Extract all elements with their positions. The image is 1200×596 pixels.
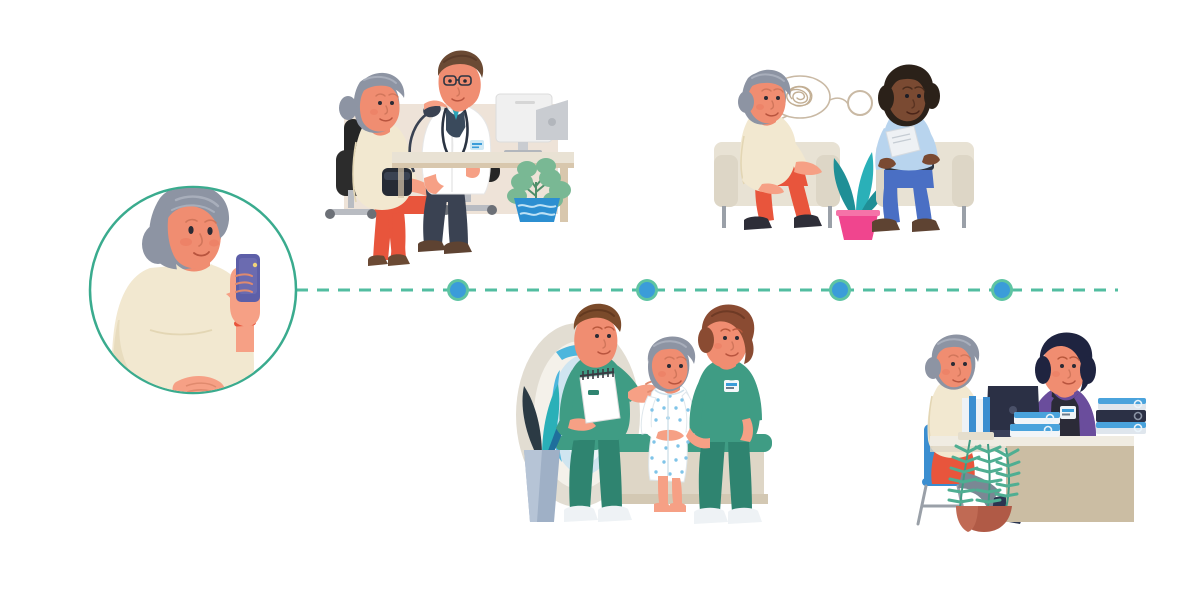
timeline-node-therapy[interactable] (636, 279, 658, 301)
binder-desk-2-band (1010, 424, 1060, 431)
care-journey-illustration (0, 0, 1200, 596)
patient-eye-left (951, 362, 955, 366)
eye-right (207, 227, 212, 235)
nurse-female-leg-right (728, 430, 752, 512)
file-2 (969, 396, 976, 434)
desk-leg-left (398, 168, 404, 198)
patient-eye-left (667, 364, 671, 368)
patient-shin-right (672, 478, 682, 506)
file-3 (976, 399, 983, 434)
chair-post (348, 190, 354, 208)
armchair-right-leg-2 (962, 206, 966, 228)
cheek-left (180, 238, 192, 246)
admin-eye-left (1060, 364, 1064, 368)
nurse-male-leg-right (598, 430, 622, 510)
file-4 (983, 397, 990, 434)
badge-line-2 (726, 387, 734, 389)
monitor-stand-neck (518, 142, 528, 150)
admin-eye-right (1072, 364, 1076, 368)
patient-eye-right (390, 101, 394, 105)
nurse-female-eye-left (723, 336, 727, 340)
patient-hair-bun (738, 91, 754, 113)
patient-hair-bun (925, 357, 941, 379)
patient-eye-left (764, 96, 768, 100)
armchair-left-leg-1 (722, 206, 726, 228)
timeline-node-imaging[interactable] (829, 279, 851, 301)
patient-foot-left (654, 503, 670, 512)
patient-shin-left (658, 476, 668, 506)
doctor-shoe-left (418, 240, 446, 252)
armchair-left-leg-2 (828, 206, 832, 228)
binder-stack-desk (1010, 412, 1060, 437)
nurse-male-eye-left (595, 334, 599, 338)
admin-hair-side-right (1080, 356, 1096, 384)
nurse-male-eye-right (607, 334, 611, 338)
file-1 (962, 398, 969, 434)
cuff-band (384, 172, 410, 180)
notepad (580, 368, 620, 423)
illustration-canvas (0, 0, 1200, 596)
doctor-eye-left (448, 79, 452, 83)
doctor-eye-right (463, 79, 467, 83)
monitor-knob (548, 118, 556, 126)
patient-foot-right (670, 503, 686, 512)
admin-id-badge (1060, 406, 1076, 419)
binder-stack-right (1096, 398, 1146, 434)
admin-badge-line-1 (1062, 409, 1074, 412)
timeline-node-doctor[interactable] (447, 279, 469, 301)
plant-pot (514, 198, 560, 222)
patient-eye-right (776, 96, 780, 100)
patient-hair-bun (339, 96, 357, 120)
nurse-female-eye-right (735, 336, 739, 340)
therapist-hair-side-left (878, 85, 894, 111)
chair-wheel-left (325, 209, 335, 219)
patient-eye-right (679, 364, 683, 368)
therapist-eye-right (917, 94, 921, 98)
badge-line-1 (726, 383, 737, 386)
nurse-female-hair-side (698, 327, 714, 353)
doctor-leg-right (448, 190, 468, 246)
upright-file-folders (958, 396, 994, 440)
therapist-eye-left (905, 94, 909, 98)
plant-pot-rim (836, 210, 880, 216)
admin-hair-side-left (1035, 356, 1051, 384)
patient-eye-left (378, 101, 382, 105)
desk-front-panel (1006, 446, 1134, 522)
cheek-right (209, 240, 219, 247)
armchair-left-arm-near (714, 155, 738, 207)
armchair-right-arm-far (952, 155, 974, 207)
plant-leaf-4 (536, 158, 556, 174)
file-tray (958, 432, 994, 440)
notepad-page (580, 374, 620, 423)
nurse-male-pocket (588, 390, 599, 395)
smartphone-indicator (253, 263, 257, 267)
therapist-hair-side-right (924, 83, 940, 109)
monitor-screen-line (515, 101, 535, 104)
plant-leaf-3 (517, 161, 537, 177)
patient-face (360, 84, 400, 132)
admin-badge-line-2 (1062, 414, 1070, 416)
timeline-node-admin[interactable] (991, 279, 1013, 301)
patient-eye-right (963, 362, 967, 366)
eye-left (188, 226, 193, 234)
